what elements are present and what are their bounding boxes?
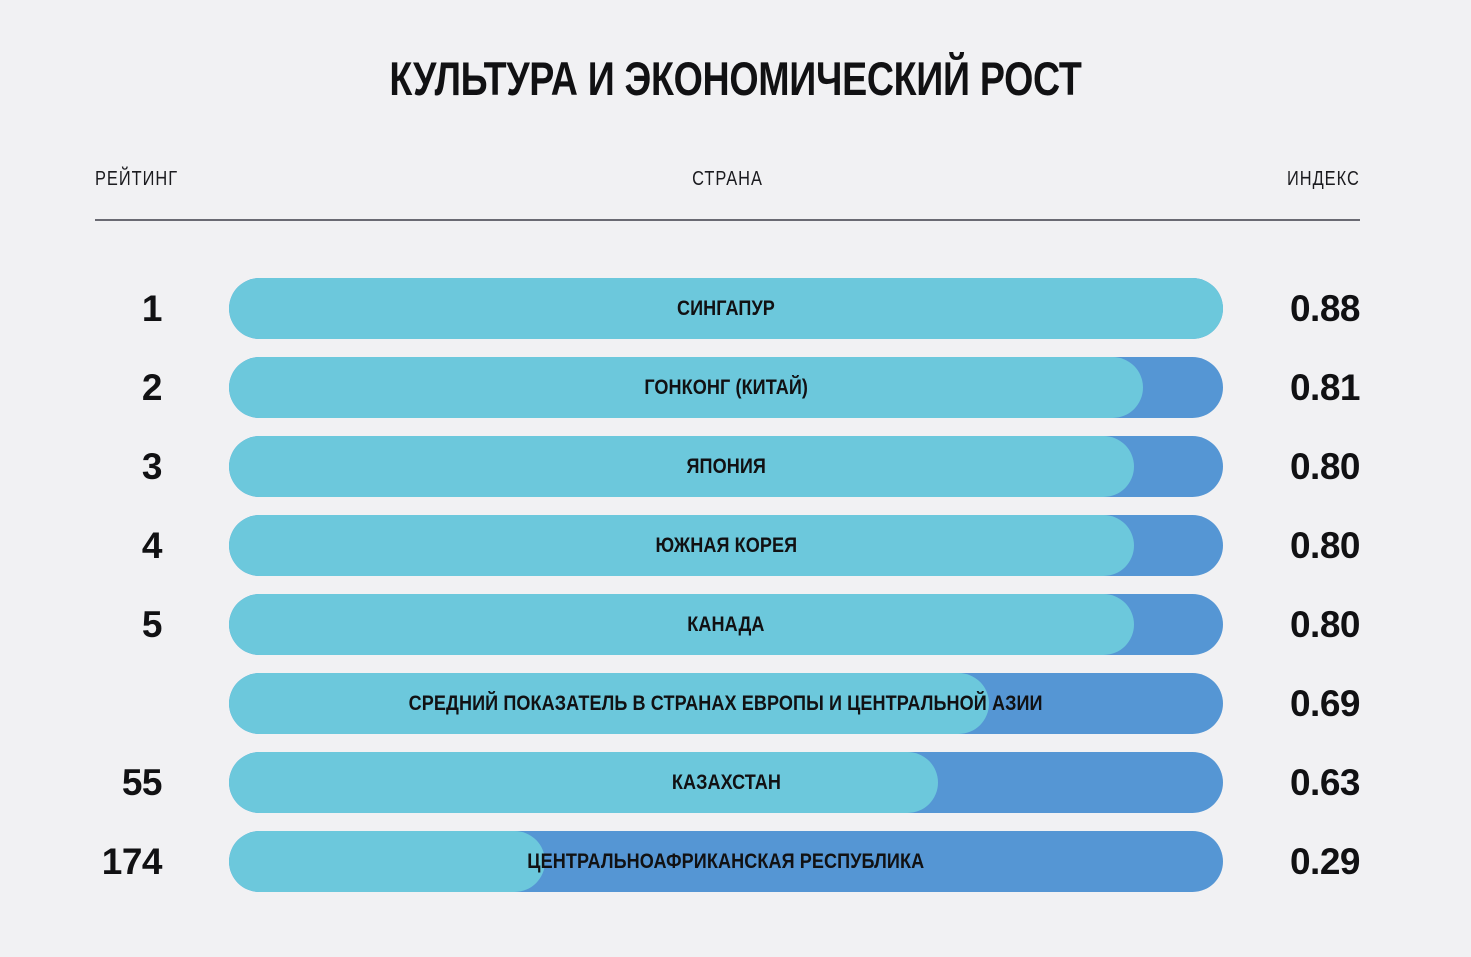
rank-value: 4 — [0, 515, 162, 576]
rank-value: 55 — [0, 752, 162, 813]
country-label: ЦЕНТРАЛЬНОАФРИКАНСКАЯ РЕСПУБЛИКА — [229, 831, 1223, 892]
country-label-text: СИНГАПУР — [677, 297, 775, 321]
table-row: 3ЯПОНИЯ0.80 — [0, 436, 1471, 497]
bar-track: ЮЖНАЯ КОРЕЯ — [229, 515, 1223, 576]
country-label: СРЕДНИЙ ПОКАЗАТЕЛЬ В СТРАНАХ ЕВРОПЫ И ЦЕ… — [229, 673, 1223, 734]
column-header-rank: РЕЙТИНГ — [95, 168, 178, 191]
table-row: СРЕДНИЙ ПОКАЗАТЕЛЬ В СТРАНАХ ЕВРОПЫ И ЦЕ… — [0, 673, 1471, 734]
country-label-text: КАЗАХСТАН — [671, 771, 780, 795]
rank-value: 3 — [0, 436, 162, 497]
rank-value: 5 — [0, 594, 162, 655]
rank-value: 174 — [0, 831, 162, 892]
country-label-text: КАНАДА — [687, 613, 764, 637]
country-label-text: ЦЕНТРАЛЬНОАФРИКАНСКАЯ РЕСПУБЛИКА — [528, 850, 925, 874]
country-label: КАНАДА — [229, 594, 1223, 655]
country-label-text: ГОНКОНГ (КИТАЙ) — [644, 376, 808, 400]
bar-track: ЯПОНИЯ — [229, 436, 1223, 497]
bar-track: ГОНКОНГ (КИТАЙ) — [229, 357, 1223, 418]
header-divider — [95, 219, 1360, 221]
country-label-text: ЮЖНАЯ КОРЕЯ — [655, 534, 797, 558]
country-label: КАЗАХСТАН — [229, 752, 1223, 813]
bar-track: СИНГАПУР — [229, 278, 1223, 339]
country-label: СИНГАПУР — [229, 278, 1223, 339]
country-label-text: СРЕДНИЙ ПОКАЗАТЕЛЬ В СТРАНАХ ЕВРОПЫ И ЦЕ… — [409, 692, 1043, 716]
country-label: ЮЖНАЯ КОРЕЯ — [229, 515, 1223, 576]
bar-track: КАНАДА — [229, 594, 1223, 655]
page-title: КУЛЬТУРА И ЭКОНОМИЧЕСКИЙ РОСТ — [147, 54, 1324, 103]
rank-value: 1 — [0, 278, 162, 339]
ranking-rows: 1СИНГАПУР0.882ГОНКОНГ (КИТАЙ)0.813ЯПОНИЯ… — [0, 278, 1471, 910]
column-header-country: СТРАНА — [209, 168, 1246, 191]
column-header-index: ИНДЕКС — [1287, 168, 1360, 191]
country-label: ГОНКОНГ (КИТАЙ) — [229, 357, 1223, 418]
bar-track: СРЕДНИЙ ПОКАЗАТЕЛЬ В СТРАНАХ ЕВРОПЫ И ЦЕ… — [229, 673, 1223, 734]
bar-track: КАЗАХСТАН — [229, 752, 1223, 813]
rank-value: 2 — [0, 357, 162, 418]
table-row: 1СИНГАПУР0.88 — [0, 278, 1471, 339]
rank-value — [0, 673, 162, 734]
country-label-text: ЯПОНИЯ — [686, 455, 766, 479]
bar-track: ЦЕНТРАЛЬНОАФРИКАНСКАЯ РЕСПУБЛИКА — [229, 831, 1223, 892]
table-row: 55КАЗАХСТАН0.63 — [0, 752, 1471, 813]
table-row: 5КАНАДА0.80 — [0, 594, 1471, 655]
country-label: ЯПОНИЯ — [229, 436, 1223, 497]
column-headers: РЕЙТИНГ СТРАНА ИНДЕКС — [95, 168, 1360, 194]
table-row: 2ГОНКОНГ (КИТАЙ)0.81 — [0, 357, 1471, 418]
table-row: 4ЮЖНАЯ КОРЕЯ0.80 — [0, 515, 1471, 576]
table-row: 174ЦЕНТРАЛЬНОАФРИКАНСКАЯ РЕСПУБЛИКА0.29 — [0, 831, 1471, 892]
